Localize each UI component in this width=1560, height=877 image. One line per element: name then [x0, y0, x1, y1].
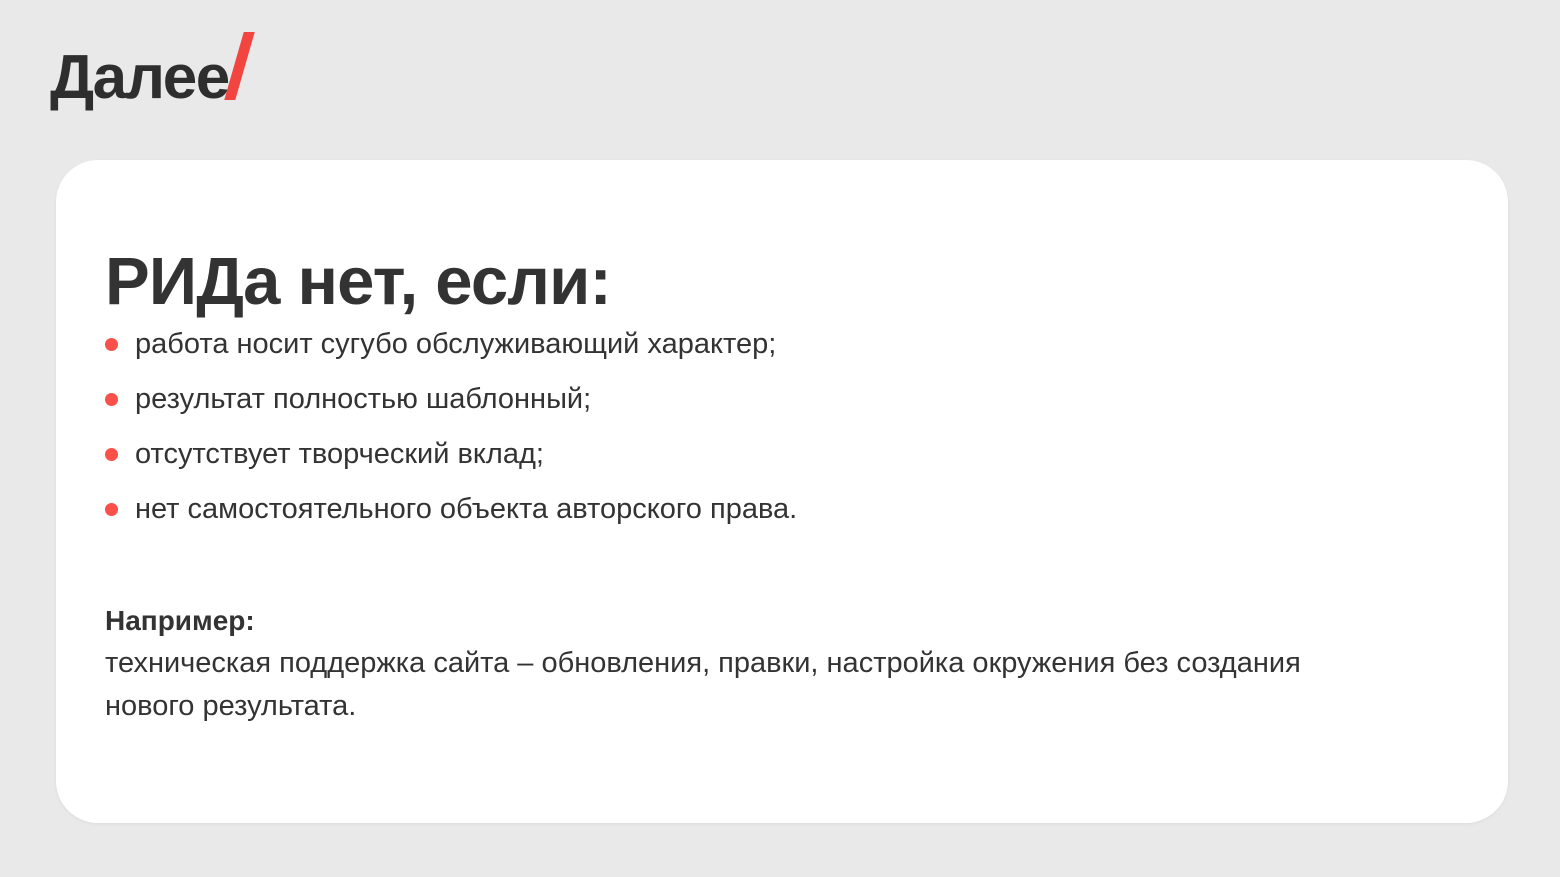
criteria-list: работа носит сугубо обслуживающий характ…: [105, 326, 797, 546]
content-card: РИДа нет, если: работа носит сугубо обсл…: [56, 160, 1508, 823]
list-item: отсутствует творческий вклад;: [105, 436, 797, 491]
list-item-label: отсутствует творческий вклад;: [135, 436, 544, 472]
bullet-dot-icon: [105, 503, 118, 516]
brand-logo: Далее: [50, 36, 253, 109]
bullet-dot-icon: [105, 448, 118, 461]
list-item-label: работа носит сугубо обслуживающий характ…: [135, 326, 776, 362]
list-item-label: результат полностью шаблонный;: [135, 381, 591, 417]
brand-slash-icon: [227, 36, 253, 98]
example-label: Например:: [105, 600, 1385, 642]
list-item: работа носит сугубо обслуживающий характ…: [105, 326, 797, 381]
list-item: результат полностью шаблонный;: [105, 381, 797, 436]
list-item: нет самостоятельного объекта авторского …: [105, 491, 797, 546]
bullet-dot-icon: [105, 393, 118, 406]
page-title: РИДа нет, если:: [105, 245, 611, 319]
brand-logo-text: Далее: [50, 47, 229, 109]
bullet-dot-icon: [105, 338, 118, 351]
example-text: техническая поддержка сайта – обновления…: [105, 642, 1345, 728]
list-item-label: нет самостоятельного объекта авторского …: [135, 491, 797, 527]
example-block: Например: техническая поддержка сайта – …: [105, 600, 1385, 728]
